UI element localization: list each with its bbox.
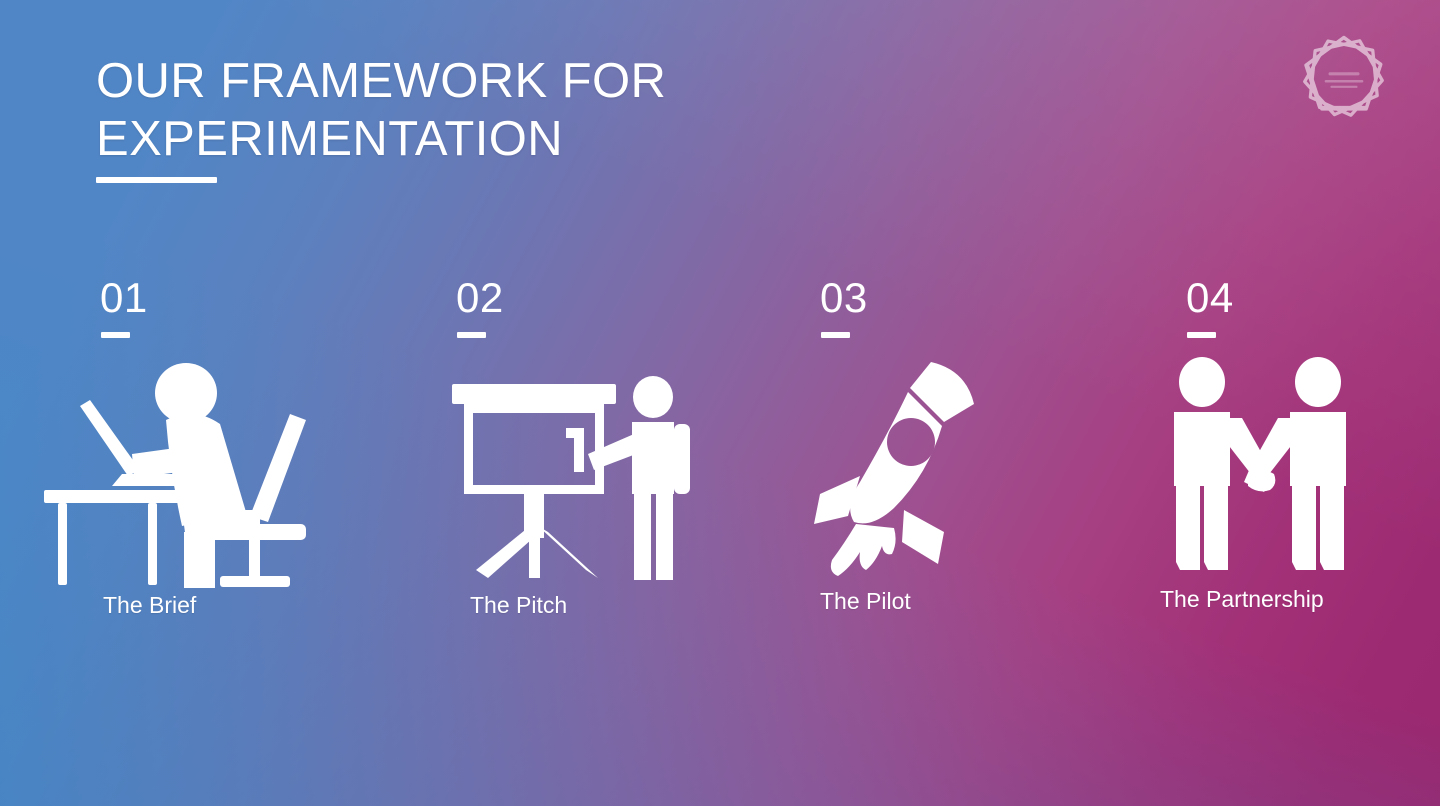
title-underline-rule (96, 177, 217, 183)
step-item-partnership[interactable]: 04 (1080, 276, 1440, 656)
step-number-underline (457, 332, 486, 338)
person-at-desk-with-laptop-icon (44, 362, 328, 590)
step-number-underline (821, 332, 850, 338)
step-item-pilot[interactable]: 03 (720, 276, 1080, 656)
step-label: The Brief (103, 592, 196, 618)
step-label: The Pitch (470, 592, 567, 618)
step-number: 02 (456, 276, 504, 320)
step-label: The Pilot (820, 588, 911, 614)
rosette-logo (1286, 22, 1402, 138)
step-number-underline (101, 332, 130, 338)
rocket-launch-icon (798, 356, 998, 588)
page-title: OUR FRAMEWORK FOR EXPERIMENTATION (96, 52, 856, 168)
handshake-two-people-icon (1146, 356, 1374, 584)
presentation-slide: OUR FRAMEWORK FOR EXPERIMENTATION 01 (0, 0, 1440, 806)
presenter-with-projector-screen-icon (448, 376, 700, 584)
step-number: 01 (100, 276, 148, 320)
step-number-underline (1187, 332, 1216, 338)
step-number: 04 (1186, 276, 1234, 320)
step-item-pitch[interactable]: 02 (360, 276, 720, 656)
framework-steps-row: 01 (0, 276, 1440, 656)
title-block: OUR FRAMEWORK FOR EXPERIMENTATION (96, 52, 856, 183)
step-item-brief[interactable]: 01 (0, 276, 360, 656)
step-number: 03 (820, 276, 868, 320)
step-label: The Partnership (1160, 586, 1324, 612)
